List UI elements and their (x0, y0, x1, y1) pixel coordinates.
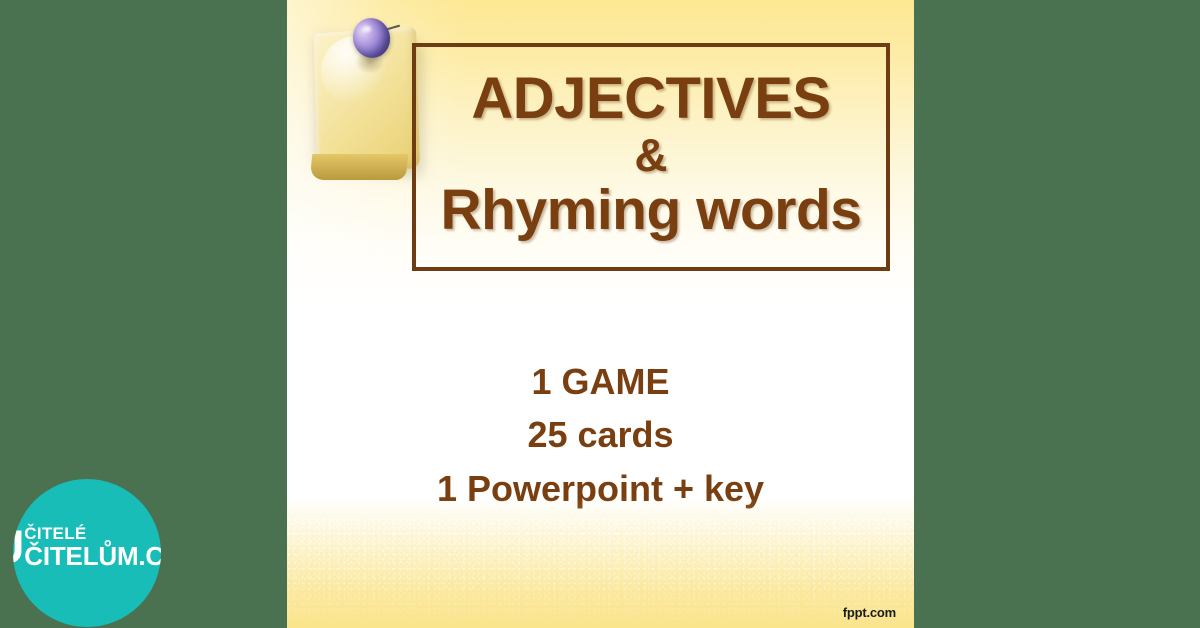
logo-line-citele: ČITELÉ (24, 525, 161, 542)
logo-content: U ČITELÉ ČITELŮM.CZ (13, 525, 161, 569)
sticky-note-curl (310, 154, 409, 180)
background-speckle-texture (287, 518, 914, 628)
pushpin-glint (361, 24, 373, 34)
sticky-note-graphic (303, 6, 428, 186)
slide: ADJECTIVES & Rhyming words 1 GAME 25 car… (287, 0, 914, 628)
logo-big-letter: U (13, 528, 23, 567)
logo-line-citelum-cz: ČITELŮM.CZ (24, 543, 161, 569)
title-line-ampersand: & (634, 132, 667, 178)
contents-line-games: 1 GAME (287, 355, 914, 408)
letterbox-canvas: ADJECTIVES & Rhyming words 1 GAME 25 car… (0, 0, 1200, 628)
contents-line-cards: 25 cards (287, 408, 914, 461)
title-line-rhyming-words: Rhyming words (440, 182, 861, 239)
logo-text-stack: ČITELÉ ČITELŮM.CZ (24, 525, 161, 569)
title-line-adjectives: ADJECTIVES (471, 70, 830, 128)
title-box: ADJECTIVES & Rhyming words (412, 43, 890, 271)
ucitele-ucitelum-logo[interactable]: U ČITELÉ ČITELŮM.CZ (13, 479, 161, 627)
fppt-watermark: fppt.com (843, 605, 896, 620)
contents-summary: 1 GAME 25 cards 1 Powerpoint + key (287, 355, 914, 515)
